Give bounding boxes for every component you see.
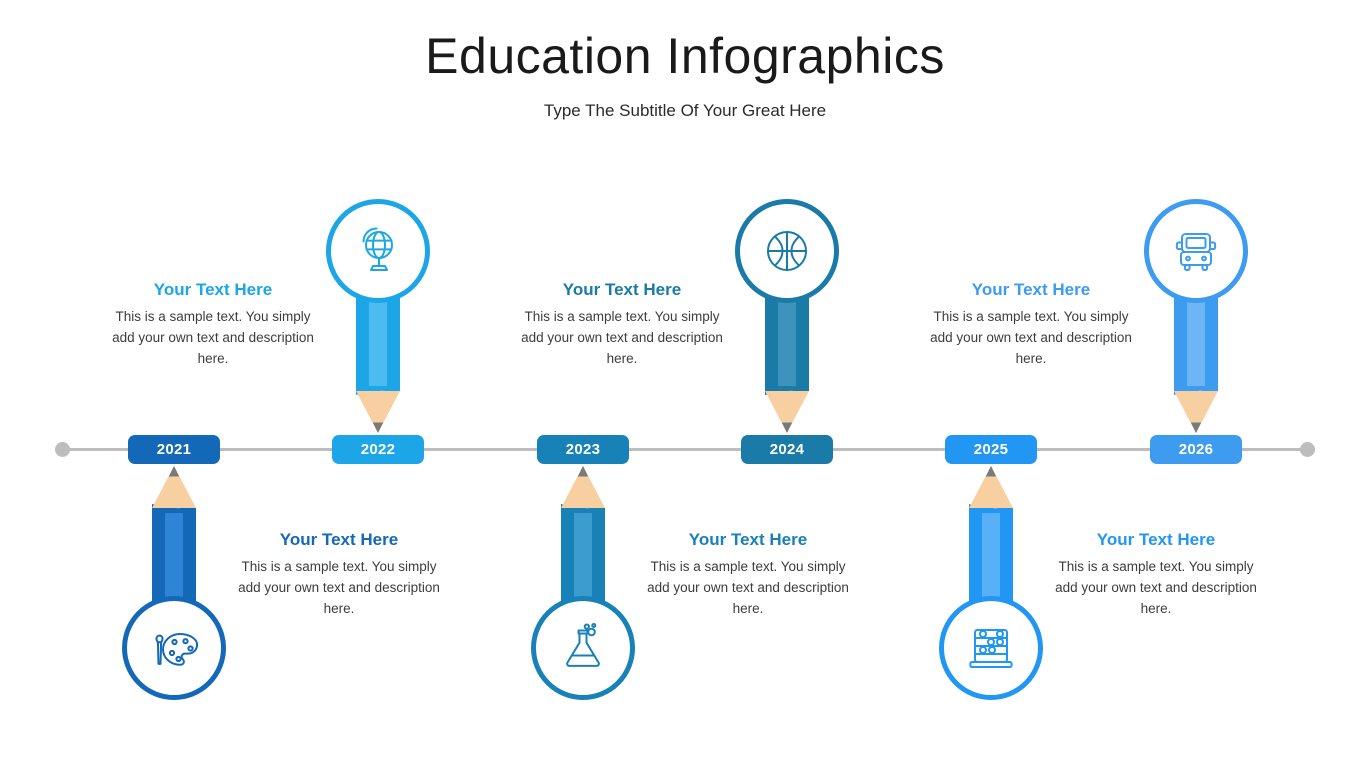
icon-circle-2021[interactable]	[122, 596, 226, 700]
abacus-icon	[965, 622, 1017, 674]
pencil-body	[969, 508, 1013, 608]
pencil-stripe	[561, 508, 574, 608]
pencil-tip	[1174, 391, 1218, 433]
pencil-body	[1174, 291, 1218, 391]
text-heading: Your Text Here	[110, 280, 316, 300]
pencil-body	[765, 291, 809, 391]
text-block-2021: Your Text HereThis is a sample text. You…	[236, 530, 442, 620]
year-badge-label: 2022	[361, 441, 396, 458]
year-badge-label: 2023	[566, 441, 601, 458]
palette-icon	[147, 621, 201, 675]
pencil-tip	[969, 466, 1013, 508]
bus-icon	[1170, 225, 1222, 277]
flask-icon	[557, 622, 609, 674]
year-badge-2026[interactable]: 2026	[1150, 435, 1242, 464]
icon-circle-2022[interactable]	[326, 199, 430, 303]
infographic-slide: Education Infographics Type The Subtitle…	[0, 0, 1370, 771]
pencil-tip	[561, 466, 605, 508]
text-heading: Your Text Here	[519, 280, 725, 300]
year-badge-2023[interactable]: 2023	[537, 435, 629, 464]
year-badge-2021[interactable]: 2021	[128, 435, 220, 464]
pencil-stripe	[1174, 291, 1187, 391]
pencil-stripe	[778, 291, 796, 391]
text-block-2022: Your Text HereThis is a sample text. You…	[110, 280, 316, 370]
icon-circle-2023[interactable]	[531, 596, 635, 700]
timeline-axis	[62, 448, 1308, 451]
icon-circle-2026[interactable]	[1144, 199, 1248, 303]
pencil-stripe	[796, 291, 809, 391]
basketball-icon	[761, 225, 813, 277]
pencil-stripe	[1205, 291, 1218, 391]
text-body: This is a sample text. You simply add yo…	[928, 307, 1134, 370]
pencil-stripe	[1000, 508, 1013, 608]
icon-circle-2024[interactable]	[735, 199, 839, 303]
pencil-body	[356, 291, 400, 391]
icon-circle-2025[interactable]	[939, 596, 1043, 700]
year-badge-2024[interactable]: 2024	[741, 435, 833, 464]
text-heading: Your Text Here	[645, 530, 851, 550]
pencil-stripe	[387, 291, 400, 391]
pencil-stripe	[982, 508, 1000, 608]
page-subtitle: Type The Subtitle Of Your Great Here	[0, 101, 1370, 121]
timeline-cap-right	[1300, 442, 1315, 457]
text-body: This is a sample text. You simply add yo…	[110, 307, 316, 370]
text-block-2023: Your Text HereThis is a sample text. You…	[645, 530, 851, 620]
text-block-2026: Your Text HereThis is a sample text. You…	[928, 280, 1134, 370]
text-body: This is a sample text. You simply add yo…	[236, 557, 442, 620]
text-body: This is a sample text. You simply add yo…	[519, 307, 725, 370]
pencil-stripe	[369, 291, 387, 391]
pencil-tip	[765, 391, 809, 433]
pencil-stripe	[356, 291, 369, 391]
globe-icon	[352, 225, 404, 277]
year-badge-label: 2026	[1179, 441, 1214, 458]
year-badge-label: 2024	[770, 441, 805, 458]
text-block-2024: Your Text HereThis is a sample text. You…	[519, 280, 725, 370]
pencil-stripe	[152, 508, 165, 608]
pencil-tip	[356, 391, 400, 433]
year-badge-label: 2025	[974, 441, 1009, 458]
text-heading: Your Text Here	[928, 280, 1134, 300]
pencil-tip	[152, 466, 196, 508]
pencil-stripe	[765, 291, 778, 391]
year-badge-2022[interactable]: 2022	[332, 435, 424, 464]
timeline-cap-left	[55, 442, 70, 457]
text-heading: Your Text Here	[1053, 530, 1259, 550]
pencil-stripe	[969, 508, 982, 608]
pencil-body	[152, 508, 196, 608]
text-body: This is a sample text. You simply add yo…	[645, 557, 851, 620]
pencil-stripe	[592, 508, 605, 608]
pencil-stripe	[1187, 291, 1205, 391]
pencil-stripe	[183, 508, 196, 608]
pencil-stripe	[165, 508, 183, 608]
pencil-stripe	[574, 508, 592, 608]
text-body: This is a sample text. You simply add yo…	[1053, 557, 1259, 620]
text-block-2025: Your Text HereThis is a sample text. You…	[1053, 530, 1259, 620]
year-badge-label: 2021	[157, 441, 192, 458]
pencil-body	[561, 508, 605, 608]
page-title: Education Infographics	[0, 28, 1370, 84]
year-badge-2025[interactable]: 2025	[945, 435, 1037, 464]
text-heading: Your Text Here	[236, 530, 442, 550]
